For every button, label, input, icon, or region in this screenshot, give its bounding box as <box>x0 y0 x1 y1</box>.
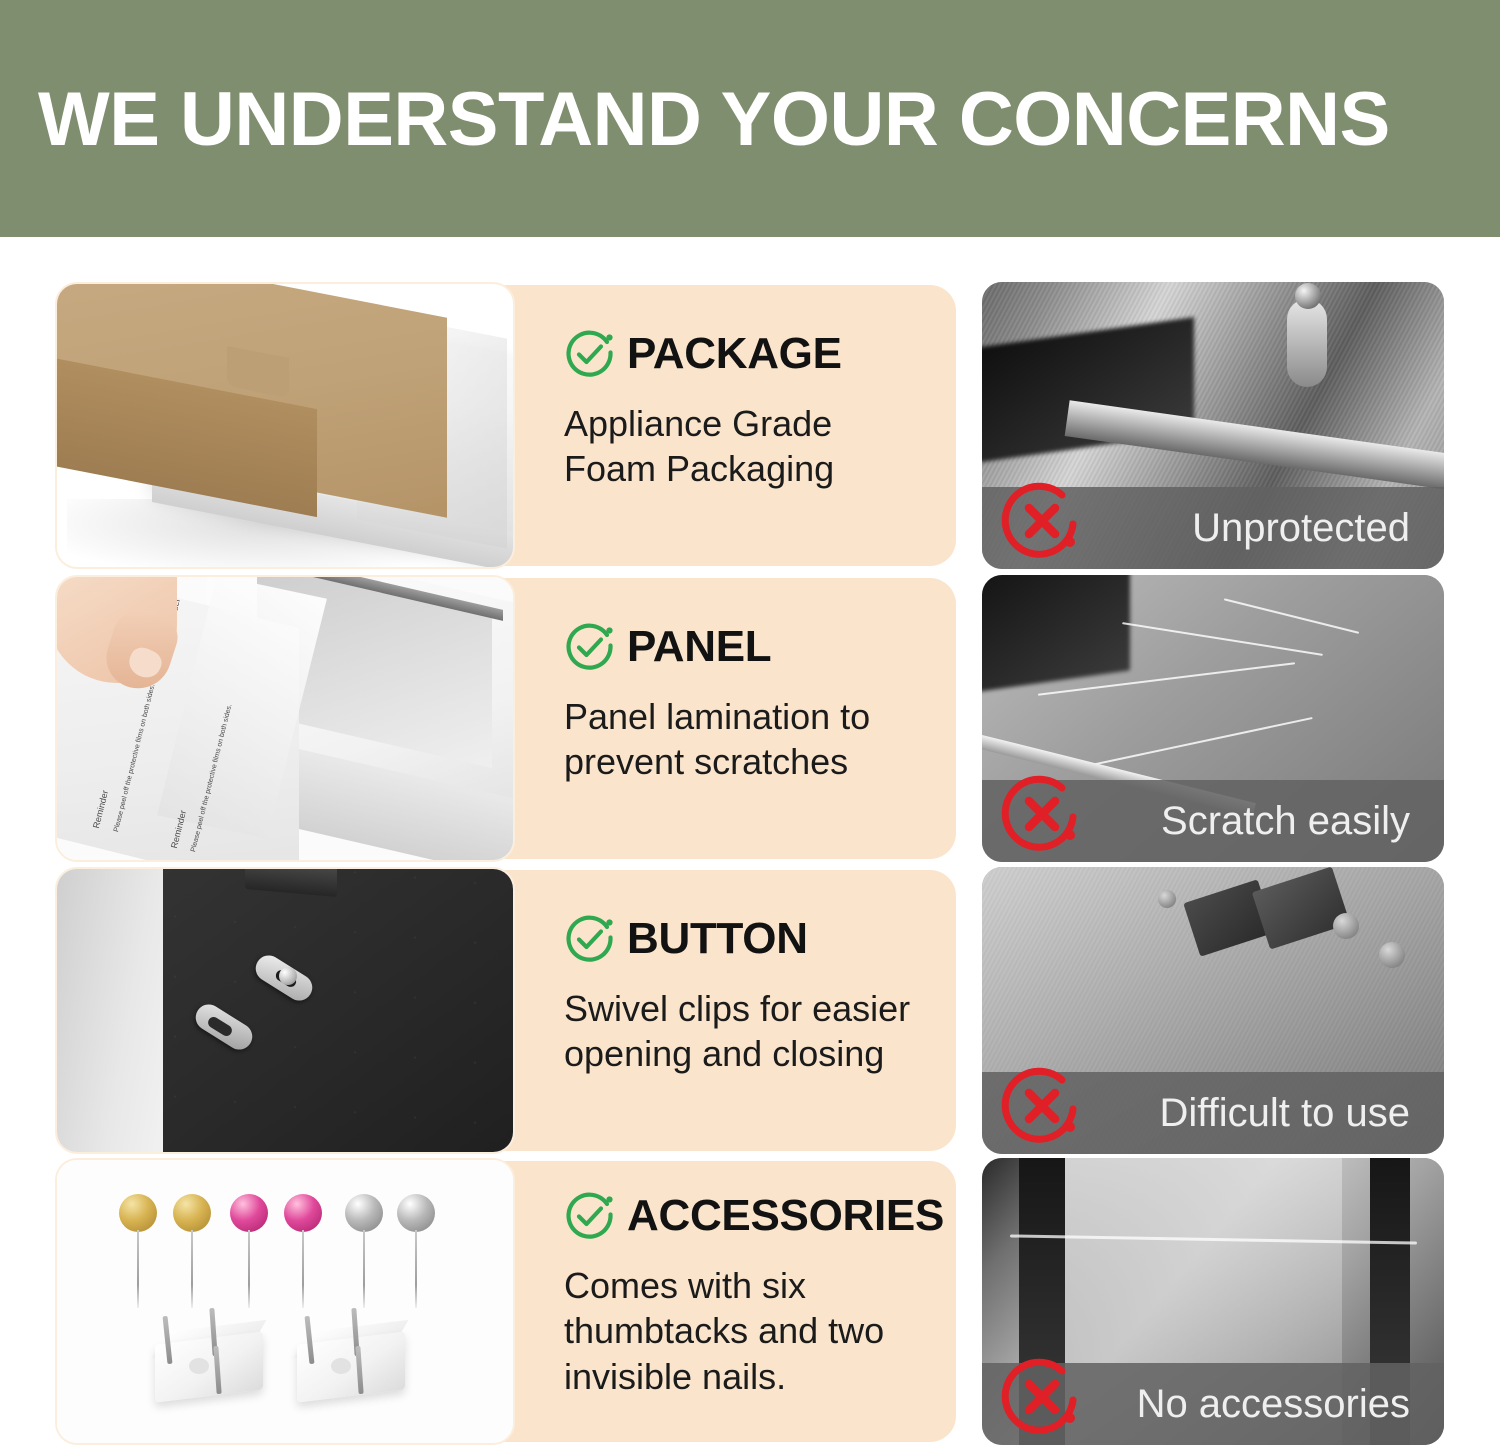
unprotected-photo: Unprotected <box>982 282 1444 569</box>
thumbtack-silver-2 <box>397 1194 435 1232</box>
thumbtack-pin <box>248 1230 250 1308</box>
nail-block-hole <box>189 1358 209 1374</box>
feature-title: PACKAGE <box>627 332 842 376</box>
thumbtack-head <box>173 1194 211 1232</box>
clip-rivet <box>279 967 297 985</box>
thumbtack-pin <box>137 1230 139 1308</box>
screw-hole <box>1333 913 1359 939</box>
button-photo-art <box>57 869 513 1152</box>
feature-title: ACCESSORIES <box>627 1194 944 1238</box>
con-label-bar: No accessories <box>982 1363 1444 1445</box>
screw-hole <box>1379 942 1405 968</box>
feature-description: Swivel clips for easier opening and clos… <box>564 986 984 1077</box>
thumbtack-pink-1 <box>230 1194 268 1232</box>
feature-description: Panel lamination to prevent scratches <box>564 694 984 785</box>
con-label-bar: Unprotected <box>982 487 1444 569</box>
feature-text-body: PANEL Panel lamination to prevent scratc… <box>564 618 942 785</box>
thumbtack-head <box>119 1194 157 1232</box>
clip-knob <box>1287 299 1327 387</box>
con-label: Difficult to use <box>1160 1093 1445 1133</box>
screw-hole <box>1158 890 1176 908</box>
con-label-bar: Scratch easily <box>982 780 1444 862</box>
feature-heading: BUTTON <box>564 910 942 968</box>
thumbtack-gold-1 <box>119 1194 157 1232</box>
package-photo <box>55 282 515 569</box>
thumbtack-head <box>230 1194 268 1232</box>
feature-heading: ACCESSORIES <box>564 1187 942 1245</box>
page-title: WE UNDERSTAND YOUR CONCERNS <box>38 82 1468 158</box>
feature-text-body: PACKAGE Appliance Grade Foam Packaging <box>564 325 942 492</box>
scratch-easily-photo: Scratch easily <box>982 575 1444 862</box>
thumbtack-head <box>345 1194 383 1232</box>
thumbtack-head <box>284 1194 322 1232</box>
feature-description: Comes with six thumbtacks and two invisi… <box>564 1263 984 1399</box>
thumbtack-head <box>397 1194 435 1232</box>
thumbtack-pin <box>302 1230 304 1308</box>
feature-row-panel: PANEL Panel lamination to prevent scratc… <box>0 575 1500 865</box>
feature-title: BUTTON <box>627 917 808 961</box>
difficult-to-use-photo: Difficult to use <box>982 867 1444 1154</box>
accessories-photo-art <box>57 1160 513 1443</box>
feature-row-accessories: ACCESSORIES Comes with six thumbtacks an… <box>0 1158 1500 1448</box>
con-label: Scratch easily <box>1161 801 1444 841</box>
panel-photo: Reminder Please peel off the protective … <box>55 575 515 862</box>
thumbtack-pin <box>191 1230 193 1308</box>
feature-heading: PACKAGE <box>564 325 942 383</box>
con-label: No accessories <box>1137 1384 1444 1424</box>
nail-block-body <box>155 1331 263 1402</box>
feature-description: Appliance Grade Foam Packaging <box>564 401 942 492</box>
feature-title: PANEL <box>627 625 771 669</box>
button-photo <box>55 867 515 1154</box>
circle-check-icon <box>564 621 616 673</box>
feature-row-button: BUTTON Swivel clips for easier opening a… <box>0 867 1500 1157</box>
thumbtack-silver-1 <box>345 1194 383 1232</box>
feature-text-body: BUTTON Swivel clips for easier opening a… <box>564 910 942 1077</box>
con-label: Unprotected <box>1192 508 1444 548</box>
thumbtack-gold-2 <box>173 1194 211 1232</box>
circle-check-icon <box>564 1190 616 1242</box>
no-accessories-photo: No accessories <box>982 1158 1444 1445</box>
package-photo-art <box>57 284 513 567</box>
feature-row-package: PACKAGE Appliance Grade Foam Packaging <box>0 282 1500 572</box>
circle-x-icon <box>1000 772 1084 856</box>
circle-x-icon <box>1000 479 1084 563</box>
invisible-nail-1 <box>155 1316 263 1402</box>
circle-check-icon <box>564 328 616 380</box>
circle-x-icon <box>1000 1355 1084 1439</box>
circle-x-icon <box>1000 1064 1084 1148</box>
circle-check-icon <box>564 913 616 965</box>
thumbtack-pin <box>415 1230 417 1308</box>
con-label-bar: Difficult to use <box>982 1072 1444 1154</box>
nail-block-body <box>297 1331 405 1402</box>
accessories-photo <box>55 1158 515 1445</box>
feature-text-body: ACCESSORIES Comes with six thumbtacks an… <box>564 1187 942 1399</box>
thumbtack-pin <box>363 1230 365 1308</box>
invisible-nail-2 <box>297 1316 405 1402</box>
feature-rows: PACKAGE Appliance Grade Foam Packaging <box>0 237 1500 1446</box>
thumbtack-pink-2 <box>284 1194 322 1232</box>
feature-heading: PANEL <box>564 618 942 676</box>
page-header: WE UNDERSTAND YOUR CONCERNS <box>0 0 1500 237</box>
panel-photo-art: Reminder Please peel off the protective … <box>57 577 513 860</box>
nail-block-hole <box>331 1358 351 1374</box>
